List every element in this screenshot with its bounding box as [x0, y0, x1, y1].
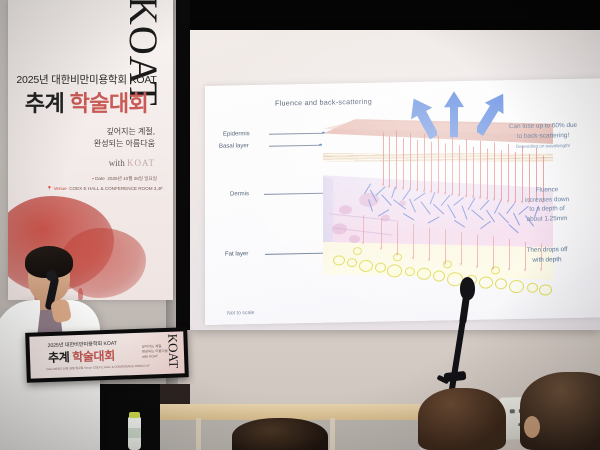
deep-light-arrow — [413, 224, 414, 258]
podium-banner-frame: KOAT 2025년 대한비만미용학회 KOAT 추계 학술대회 깊어지는 계절… — [25, 327, 189, 383]
console-button[interactable] — [510, 409, 515, 413]
water-bottle-label — [128, 428, 141, 438]
incident-light-arrow — [480, 141, 481, 198]
banner-date-row: ▪ Date 2025년 10월 26일 일요일 — [92, 176, 157, 182]
banner-venue-value: COEX E HALL & CONFERENCE ROOM 3,4F — [69, 186, 163, 191]
banner-venue-row: 📍 Venue COEX E HALL & CONFERENCE ROOM 3,… — [47, 186, 163, 192]
incident-light-arrow — [410, 133, 411, 189]
table-leg — [330, 418, 335, 450]
banner-with-brand: KOAT — [127, 158, 155, 168]
banner-with-line: with KOAT — [109, 158, 155, 168]
presentation-slide: Fluence and back-scattering Not to scale… — [205, 78, 600, 325]
incident-light-arrow — [487, 149, 488, 199]
banner-title: 추계 학술대회 — [8, 86, 165, 118]
banner-date-label: Date — [95, 176, 105, 181]
incident-light-arrow — [473, 147, 474, 197]
conference-photo-scene: Fluence and back-scattering Not to scale… — [0, 0, 600, 450]
fat-cell — [433, 270, 445, 281]
incident-light-arrow — [459, 145, 460, 195]
podium-subtitle-line: with KOAT — [142, 354, 168, 360]
leader-line — [269, 133, 323, 135]
label-dermis: Dermis — [230, 191, 249, 197]
podium-title-red: 학술대회 — [72, 349, 115, 364]
fat-cell — [527, 283, 538, 293]
label-basal-layer: Basal layer — [219, 143, 249, 150]
audience-head — [418, 388, 506, 450]
fat-cell — [417, 268, 431, 280]
audience-head — [232, 418, 328, 450]
fat-cell — [495, 278, 507, 289]
incident-light-arrow — [417, 140, 418, 190]
fat-cell — [539, 284, 552, 295]
ceiling-dark-band — [176, 0, 600, 33]
fat-cell — [509, 280, 524, 293]
deep-light-arrow — [429, 228, 430, 260]
screen-left-shadow — [176, 0, 190, 330]
leader-dot — [319, 144, 322, 147]
annotation-dropoff: Then drops off with depth — [501, 245, 593, 266]
leader-line — [269, 145, 320, 147]
banner-subtitle-line: 완성되는 아름다움 — [94, 138, 155, 150]
podium-title: 추계 학술대회 — [48, 347, 115, 366]
banner-date-value: 2025년 10월 26일 일요일 — [107, 176, 157, 181]
leader-line — [265, 253, 327, 255]
incident-light-arrow — [452, 137, 453, 194]
deep-light-arrow — [445, 229, 446, 263]
banner-with-prefix: with — [109, 158, 125, 168]
audience-ear — [524, 416, 540, 438]
handheld-microphone-head — [46, 270, 57, 281]
incident-light-arrow — [403, 138, 404, 188]
slide-footnote: Not to scale — [227, 310, 254, 317]
leader-line — [264, 193, 330, 195]
deep-light-arrow — [493, 236, 494, 268]
banner-title-black: 추계 — [25, 91, 64, 116]
podium-banner: KOAT 2025년 대한비만미용학회 KOAT 추계 학술대회 깊어지는 계절… — [29, 331, 184, 378]
backscatter-exit-arrow-left — [411, 96, 437, 140]
podium-subtitle: 깊어지는 계절, 완성되는 아름다움 with KOAT — [142, 344, 168, 360]
label-epidermis: Epidermis — [223, 131, 250, 138]
water-bottle-cap — [129, 412, 140, 418]
deep-light-arrow — [363, 215, 364, 243]
slide-title: Fluence and back-scattering — [275, 97, 372, 108]
banner-ink-drip — [78, 288, 83, 300]
incident-light-arrow — [431, 142, 432, 192]
deep-light-arrow — [477, 235, 478, 267]
annotation-note: Depending on wavelength! — [491, 143, 595, 152]
incident-light-arrow — [383, 133, 384, 185]
deep-light-arrow — [381, 219, 382, 249]
banner-title-red: 학술대회 — [70, 91, 149, 116]
table-leg — [196, 418, 201, 450]
calendar-icon: ▪ — [92, 176, 94, 181]
location-pin-icon: 📍 — [47, 186, 53, 191]
annotation-line: to back-scattering! — [491, 130, 595, 142]
fat-cell — [479, 276, 493, 288]
annotation-line: with depth — [501, 254, 593, 265]
incident-light-arrow — [438, 136, 439, 193]
incident-light-arrow — [466, 139, 467, 196]
annotation-line: about 1.25mm — [501, 213, 593, 224]
incident-light-arrow — [445, 143, 446, 193]
backscatter-exit-arrow-center — [443, 91, 465, 137]
banner-venue-label: Venue — [54, 186, 67, 191]
deep-light-arrow — [461, 232, 462, 264]
banner-subtitle-line: 깊어지는 계절, — [94, 126, 155, 138]
banner-line1: 2025년 대한비만미용학회 KOAT — [8, 72, 165, 87]
label-fat-layer: Fat layer — [225, 251, 248, 257]
podium-title-black: 추계 — [48, 350, 70, 365]
incident-light-arrow — [424, 134, 425, 191]
annotation-fluence-depth: Fluence increases down to a depth of abo… — [501, 185, 593, 225]
deep-light-arrow — [397, 222, 398, 254]
banner-subtitle: 깊어지는 계절, 완성되는 아름다움 — [94, 126, 155, 151]
incident-light-arrow — [389, 136, 390, 186]
audience-head — [520, 372, 600, 450]
annotation-backscatter: Can lose up to 60% due to back-scatterin… — [491, 121, 595, 152]
incident-light-arrow — [396, 130, 397, 188]
